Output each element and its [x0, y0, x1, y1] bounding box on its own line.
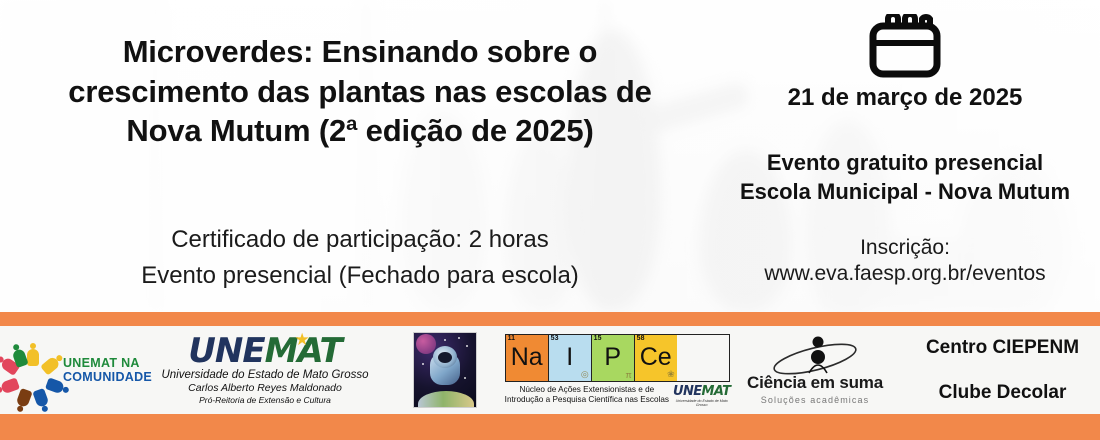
element-cell-p: 15 P π	[592, 335, 635, 381]
registration-label: Inscrição:	[716, 235, 1094, 262]
naipce-elements: 11 Na 53 I ◎ 15 P π 58	[505, 334, 731, 382]
registration-url[interactable]: www.eva.faesp.org.br/eventos	[716, 261, 1094, 288]
unemat-wordmark: UNEMAT★	[188, 335, 341, 367]
event-type: Evento gratuito presencial	[716, 148, 1094, 177]
unemat-sub-3: Pró-Reitoria de Extensão e Cultura	[161, 395, 368, 405]
element-symbol: Ce	[640, 345, 672, 370]
event-info-block: 21 de março de 2025 Evento gratuito pres…	[716, 14, 1094, 288]
element-symbol: Na	[511, 345, 543, 370]
element-mini-icon: ❀	[667, 369, 675, 380]
element-cell-i: 53 I ◎	[549, 335, 592, 381]
people-circle-icon	[10, 349, 56, 391]
ciencia-subtitle: Soluções acadêmicas	[747, 395, 883, 405]
astronaut-image	[413, 332, 477, 408]
element-number: 15	[594, 335, 602, 342]
logo-naipce: 11 Na 53 I ◎ 15 P π 58	[510, 326, 725, 414]
element-cell-na: 11 Na	[506, 335, 549, 381]
unc-line-2: COMUNIDADE	[63, 370, 152, 384]
element-symbol: P	[604, 345, 621, 370]
orange-band-bottom	[0, 414, 1100, 440]
event-venue-block: Evento gratuito presencial Escola Munici…	[716, 148, 1094, 207]
logo-astronaut	[380, 326, 510, 414]
attendance-info: Evento presencial (Fechado para escola)	[10, 258, 710, 294]
element-symbol: I	[566, 345, 573, 370]
star-icon: ★	[294, 332, 308, 348]
orange-band-top	[0, 312, 1100, 326]
partner-label-clube-decolar: Clube Decolar	[926, 383, 1079, 402]
event-date: 21 de março de 2025	[716, 84, 1094, 112]
partner-label-centro-ciepenm: Centro CIEPENM	[926, 338, 1079, 357]
partner-labels: Centro CIEPENM Clube Decolar	[905, 326, 1100, 414]
unemat-word-1: UNE	[188, 331, 264, 371]
event-title-line-2: crescimento das plantas nas escolas de	[10, 72, 710, 112]
calendar-icon	[867, 14, 943, 80]
element-number: 53	[551, 335, 559, 342]
logo-ciencia-em-suma: Ciência em suma Soluções acadêmicas	[725, 326, 905, 414]
element-mini-icon: ◎	[581, 369, 589, 380]
naipce-caption-2: Introdução a Pesquisa Científica nas Esc…	[505, 395, 669, 405]
ciencia-title: Ciência em suma	[747, 373, 883, 393]
element-cell-ce: 58 Ce ❀	[635, 335, 677, 381]
mini-sub: Universidade do Estado de Mato Grosso	[673, 399, 730, 407]
event-banner: Microverdes: Ensinando sobre o crescimen…	[0, 0, 1100, 440]
element-number: 58	[637, 335, 645, 342]
element-number: 11	[508, 335, 515, 342]
event-location: Escola Municipal - Nova Mutum	[716, 177, 1094, 206]
partner-logos: UNEMAT NA COMUNIDADE UNEMAT★ Universidad…	[0, 326, 1100, 414]
logo-unemat-na-comunidade: UNEMAT NA COMUNIDADE	[0, 326, 150, 414]
event-title-line-1: Microverdes: Ensinando sobre o	[10, 32, 710, 72]
naipce-unemat-mini-logo: UNEMAT Universidade do Estado de Mato Gr…	[673, 384, 730, 407]
mini-word-1: UNE	[673, 384, 702, 399]
unc-line-1: UNEMAT NA	[63, 356, 152, 370]
calendar-icon-wrap	[716, 14, 1094, 80]
event-title-block: Microverdes: Ensinando sobre o crescimen…	[10, 32, 710, 151]
event-title-line-3: Nova Mutum (2ª edição de 2025)	[10, 111, 710, 151]
registration-block: Inscrição: www.eva.faesp.org.br/eventos	[716, 235, 1094, 289]
unemat-sub-2: Carlos Alberto Reyes Maldonado	[161, 382, 368, 394]
atom-orbit-icon	[760, 335, 870, 375]
certificate-info: Certificado de participação: 2 horas	[10, 222, 710, 258]
naipce-caption-1: Núcleo de Ações Extensionistas e de	[505, 385, 669, 395]
element-mini-icon: π	[625, 370, 631, 380]
event-details-block: Certificado de participação: 2 horas Eve…	[10, 222, 710, 294]
logo-unemat: UNEMAT★ Universidade do Estado de Mato G…	[150, 326, 380, 414]
